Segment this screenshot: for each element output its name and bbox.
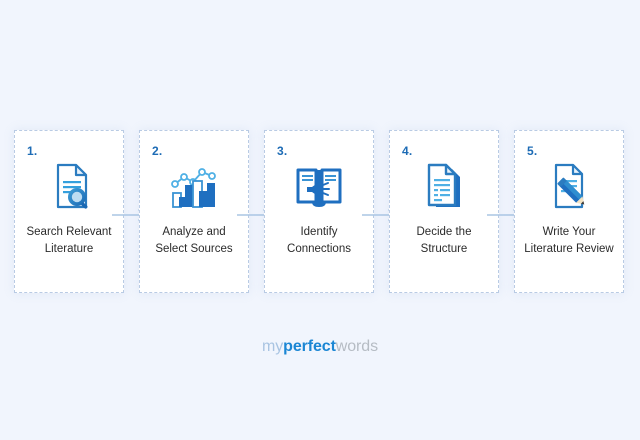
- step-label-2: Analyze and Select Sources: [140, 224, 248, 258]
- step-label-3: Identify Connections: [265, 224, 373, 258]
- connector-gap-3: [374, 130, 389, 293]
- step-number-3: 3.: [277, 144, 287, 158]
- document-pencil-icon: [542, 160, 596, 214]
- step-number-2: 2.: [152, 144, 162, 158]
- step-number-1: 1.: [27, 144, 37, 158]
- stacked-documents-icon: [417, 160, 471, 214]
- connector-gap-4: [499, 130, 514, 293]
- connector-gap-1: [124, 130, 139, 293]
- logo-text-perfect: perfect: [283, 338, 336, 355]
- step-card-1[interactable]: 1.: [14, 130, 124, 293]
- step-number-5: 5.: [527, 144, 537, 158]
- connector-gap-2: [249, 130, 264, 293]
- document-magnifier-icon: [42, 160, 96, 214]
- step-card-4[interactable]: 4. Decide the Structure: [389, 130, 499, 293]
- step-number-4: 4.: [402, 144, 412, 158]
- step-card-3[interactable]: 3. Identify Connections: [264, 130, 374, 293]
- step-label-4: Decide the Structure: [390, 224, 498, 258]
- step-label-5: Write Your Literature Review: [515, 224, 623, 258]
- bar-chart-trend-icon: [167, 160, 221, 214]
- brand-logo: myperfectwords: [0, 338, 640, 356]
- logo-text-words: words: [336, 338, 378, 355]
- step-card-2[interactable]: 2. Analyze and Select Sources: [139, 130, 249, 293]
- infographic-canvas: 1.: [0, 0, 640, 440]
- logo-text-my: my: [262, 338, 283, 355]
- open-book-megaphone-icon: [292, 160, 346, 214]
- step-label-1: Search Relevant Literature: [15, 224, 123, 258]
- step-card-5[interactable]: 5. Write Your Litera: [514, 130, 624, 293]
- process-steps-row: 1.: [14, 130, 626, 293]
